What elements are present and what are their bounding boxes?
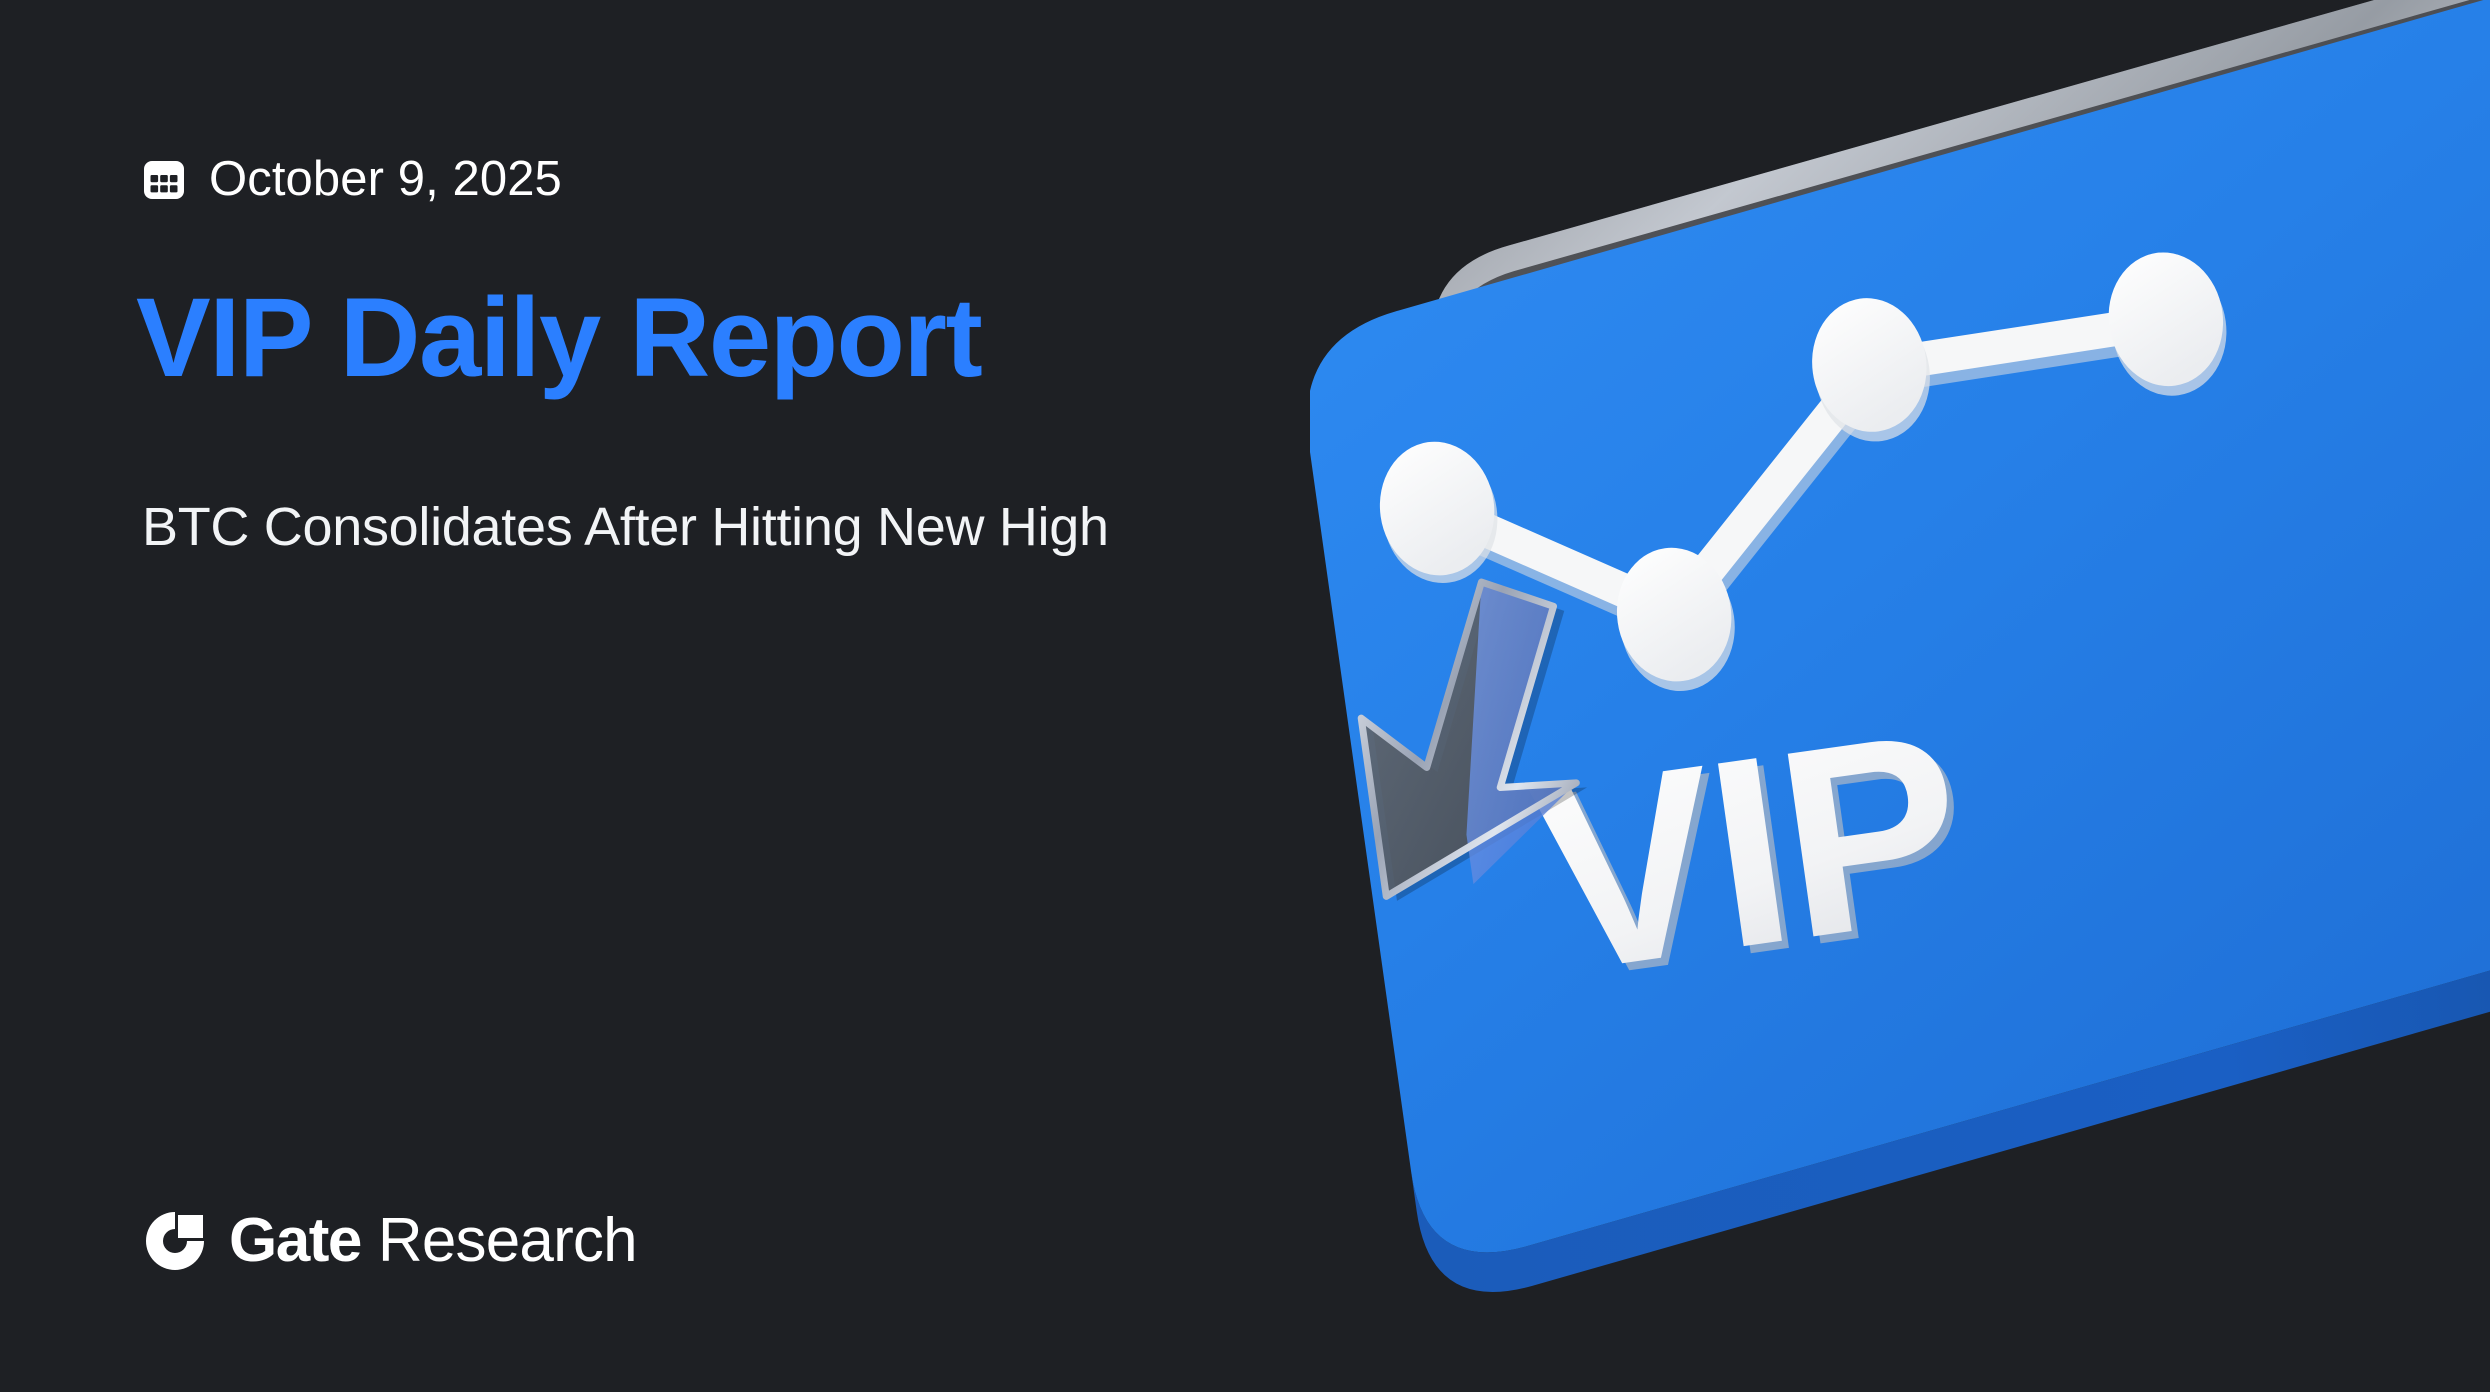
report-date: October 9, 2025 <box>209 155 562 204</box>
gate-logo-icon <box>142 1208 208 1274</box>
vip-label: VIP VIP <box>1519 673 1984 1037</box>
vip-daily-report-banner: VIP VIP <box>0 0 2490 1392</box>
svg-text:VIP: VIP <box>1526 681 1984 1037</box>
page-title: VIP Daily Report <box>136 272 981 404</box>
banner-text-column: October 9, 2025 VIP Daily Report BTC Con… <box>142 0 1442 1392</box>
logo-brand: Gate <box>229 1210 361 1272</box>
svg-text:VIP: VIP <box>1519 674 1977 1030</box>
gate-research-logo: Gate Research <box>142 1208 637 1274</box>
date-row: October 9, 2025 <box>142 155 562 204</box>
logo-product: Research <box>378 1210 637 1272</box>
logo-wordmark: Gate Research <box>229 1210 637 1272</box>
vip-card: VIP VIP <box>1310 0 2490 1302</box>
back-card <box>1396 0 2490 1024</box>
line-chart-icon <box>1359 245 2266 730</box>
vip-card-3d-illustration: VIP VIP <box>1310 0 2490 1392</box>
calendar-icon <box>142 158 186 202</box>
page-subtitle: BTC Consolidates After Hitting New High <box>142 495 1109 560</box>
